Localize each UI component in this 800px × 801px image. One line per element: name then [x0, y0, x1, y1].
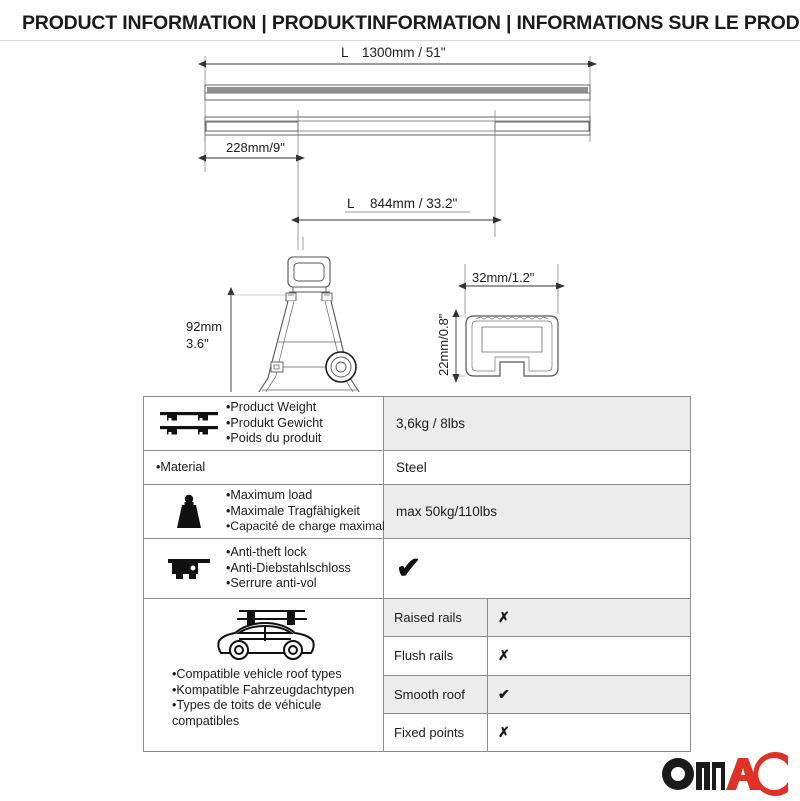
spec-value-material: Steel	[384, 451, 690, 484]
roof-option-name: Fixed points	[384, 714, 488, 751]
label-line-de: •Kompatible Fahrzeugdachtypen	[172, 683, 354, 699]
bar-length-value: 1300mm / 51"	[362, 45, 446, 60]
label-line-fr: •Capacité de charge maximale	[226, 519, 392, 535]
roof-types-options: Raised rails ✗ Flush rails ✗ Smooth roof…	[384, 599, 690, 751]
label-line-de: •Maximale Tragfähigkeit	[226, 504, 392, 520]
spec-value-max-load: max 50kg/110lbs	[384, 485, 690, 538]
lock-icon	[152, 555, 226, 583]
roof-bars-icon	[152, 407, 226, 441]
label-line-en: •Compatible vehicle roof types	[172, 667, 354, 683]
spec-label-cell: •Anti-theft lock •Anti-Diebstahlschloss …	[144, 539, 384, 598]
roof-option-row: Raised rails ✗	[384, 599, 690, 637]
label-line-fr: •Poids du produit	[226, 431, 323, 447]
roof-option-mark-cross: ✗	[488, 599, 690, 636]
car-with-rack-icon	[152, 605, 377, 663]
title-divider	[0, 40, 800, 41]
roof-option-name: Flush rails	[384, 637, 488, 674]
foot-spacing-value: 844mm / 33.2"	[370, 196, 458, 211]
roof-types-text: •Compatible vehicle roof types •Kompatib…	[152, 667, 354, 729]
label-line-de: •Produkt Gewicht	[226, 416, 323, 432]
label-line-fr: •Types de toits de véhicule compatibles	[172, 698, 342, 729]
omac-logo	[660, 752, 790, 796]
spec-label-cell: •Product Weight •Produkt Gewicht •Poids …	[144, 397, 384, 450]
profile-width-value: 32mm/1.2"	[472, 270, 535, 285]
table-row: •Maximum load •Maximale Tragfähigkeit •C…	[144, 485, 690, 539]
spec-value-anti-theft: ✔	[384, 539, 690, 598]
roof-types-label-cell: •Compatible vehicle roof types •Kompatib…	[144, 599, 384, 751]
roof-option-row: Fixed points ✗	[384, 714, 690, 751]
weight-icon	[152, 493, 226, 531]
roof-option-row: Smooth roof ✔	[384, 676, 690, 714]
roof-option-name: Smooth roof	[384, 676, 488, 713]
foot-spacing-prefix: L	[347, 196, 355, 211]
spec-label-cell: •Maximum load •Maximale Tragfähigkeit •C…	[144, 485, 384, 538]
technical-drawing: L 1300mm / 51" 228mm/9" L 844mm / 33.2" …	[0, 42, 800, 392]
table-row: •Material Steel	[144, 451, 690, 485]
title-bar: PRODUCT INFORMATION | PRODUKTINFORMATION…	[0, 0, 800, 42]
table-row: •Compatible vehicle roof types •Kompatib…	[144, 599, 690, 751]
foot-height-line1: 92mm	[186, 319, 222, 334]
roof-option-mark-cross: ✗	[488, 637, 690, 674]
spec-value-product-weight: 3,6kg / 8lbs	[384, 397, 690, 450]
bar-length-prefix: L	[341, 45, 349, 60]
roof-option-row: Flush rails ✗	[384, 637, 690, 675]
label-line-fr: •Serrure anti-vol	[226, 576, 351, 592]
spec-label-text: •Maximum load •Maximale Tragfähigkeit •C…	[226, 488, 392, 535]
label-line-en: •Maximum load	[226, 488, 392, 504]
spec-label-cell: •Material	[144, 451, 384, 484]
label-line-en: •Material	[156, 460, 205, 476]
foot-height-line2: 3.6"	[186, 336, 209, 351]
spec-label-text: •Product Weight •Produkt Gewicht •Poids …	[226, 400, 323, 447]
spec-label-text: •Anti-theft lock •Anti-Diebstahlschloss …	[226, 545, 351, 592]
spec-label-text: •Material	[152, 460, 205, 476]
profile-height-value: 22mm/0.8"	[436, 313, 451, 376]
check-icon: ✔	[396, 554, 421, 584]
label-line-en: •Product Weight	[226, 400, 323, 416]
roof-option-mark-check: ✔	[488, 676, 690, 713]
roof-option-name: Raised rails	[384, 599, 488, 636]
roof-option-mark-cross: ✗	[488, 714, 690, 751]
table-row: •Anti-theft lock •Anti-Diebstahlschloss …	[144, 539, 690, 599]
page-title: PRODUCT INFORMATION | PRODUKTINFORMATION…	[22, 12, 800, 35]
table-row: •Product Weight •Produkt Gewicht •Poids …	[144, 397, 690, 451]
specification-table: •Product Weight •Produkt Gewicht •Poids …	[143, 396, 691, 752]
foot-offset-value: 228mm/9"	[226, 140, 285, 155]
label-line-de: •Anti-Diebstahlschloss	[226, 561, 351, 577]
label-line-en: •Anti-theft lock	[226, 545, 351, 561]
